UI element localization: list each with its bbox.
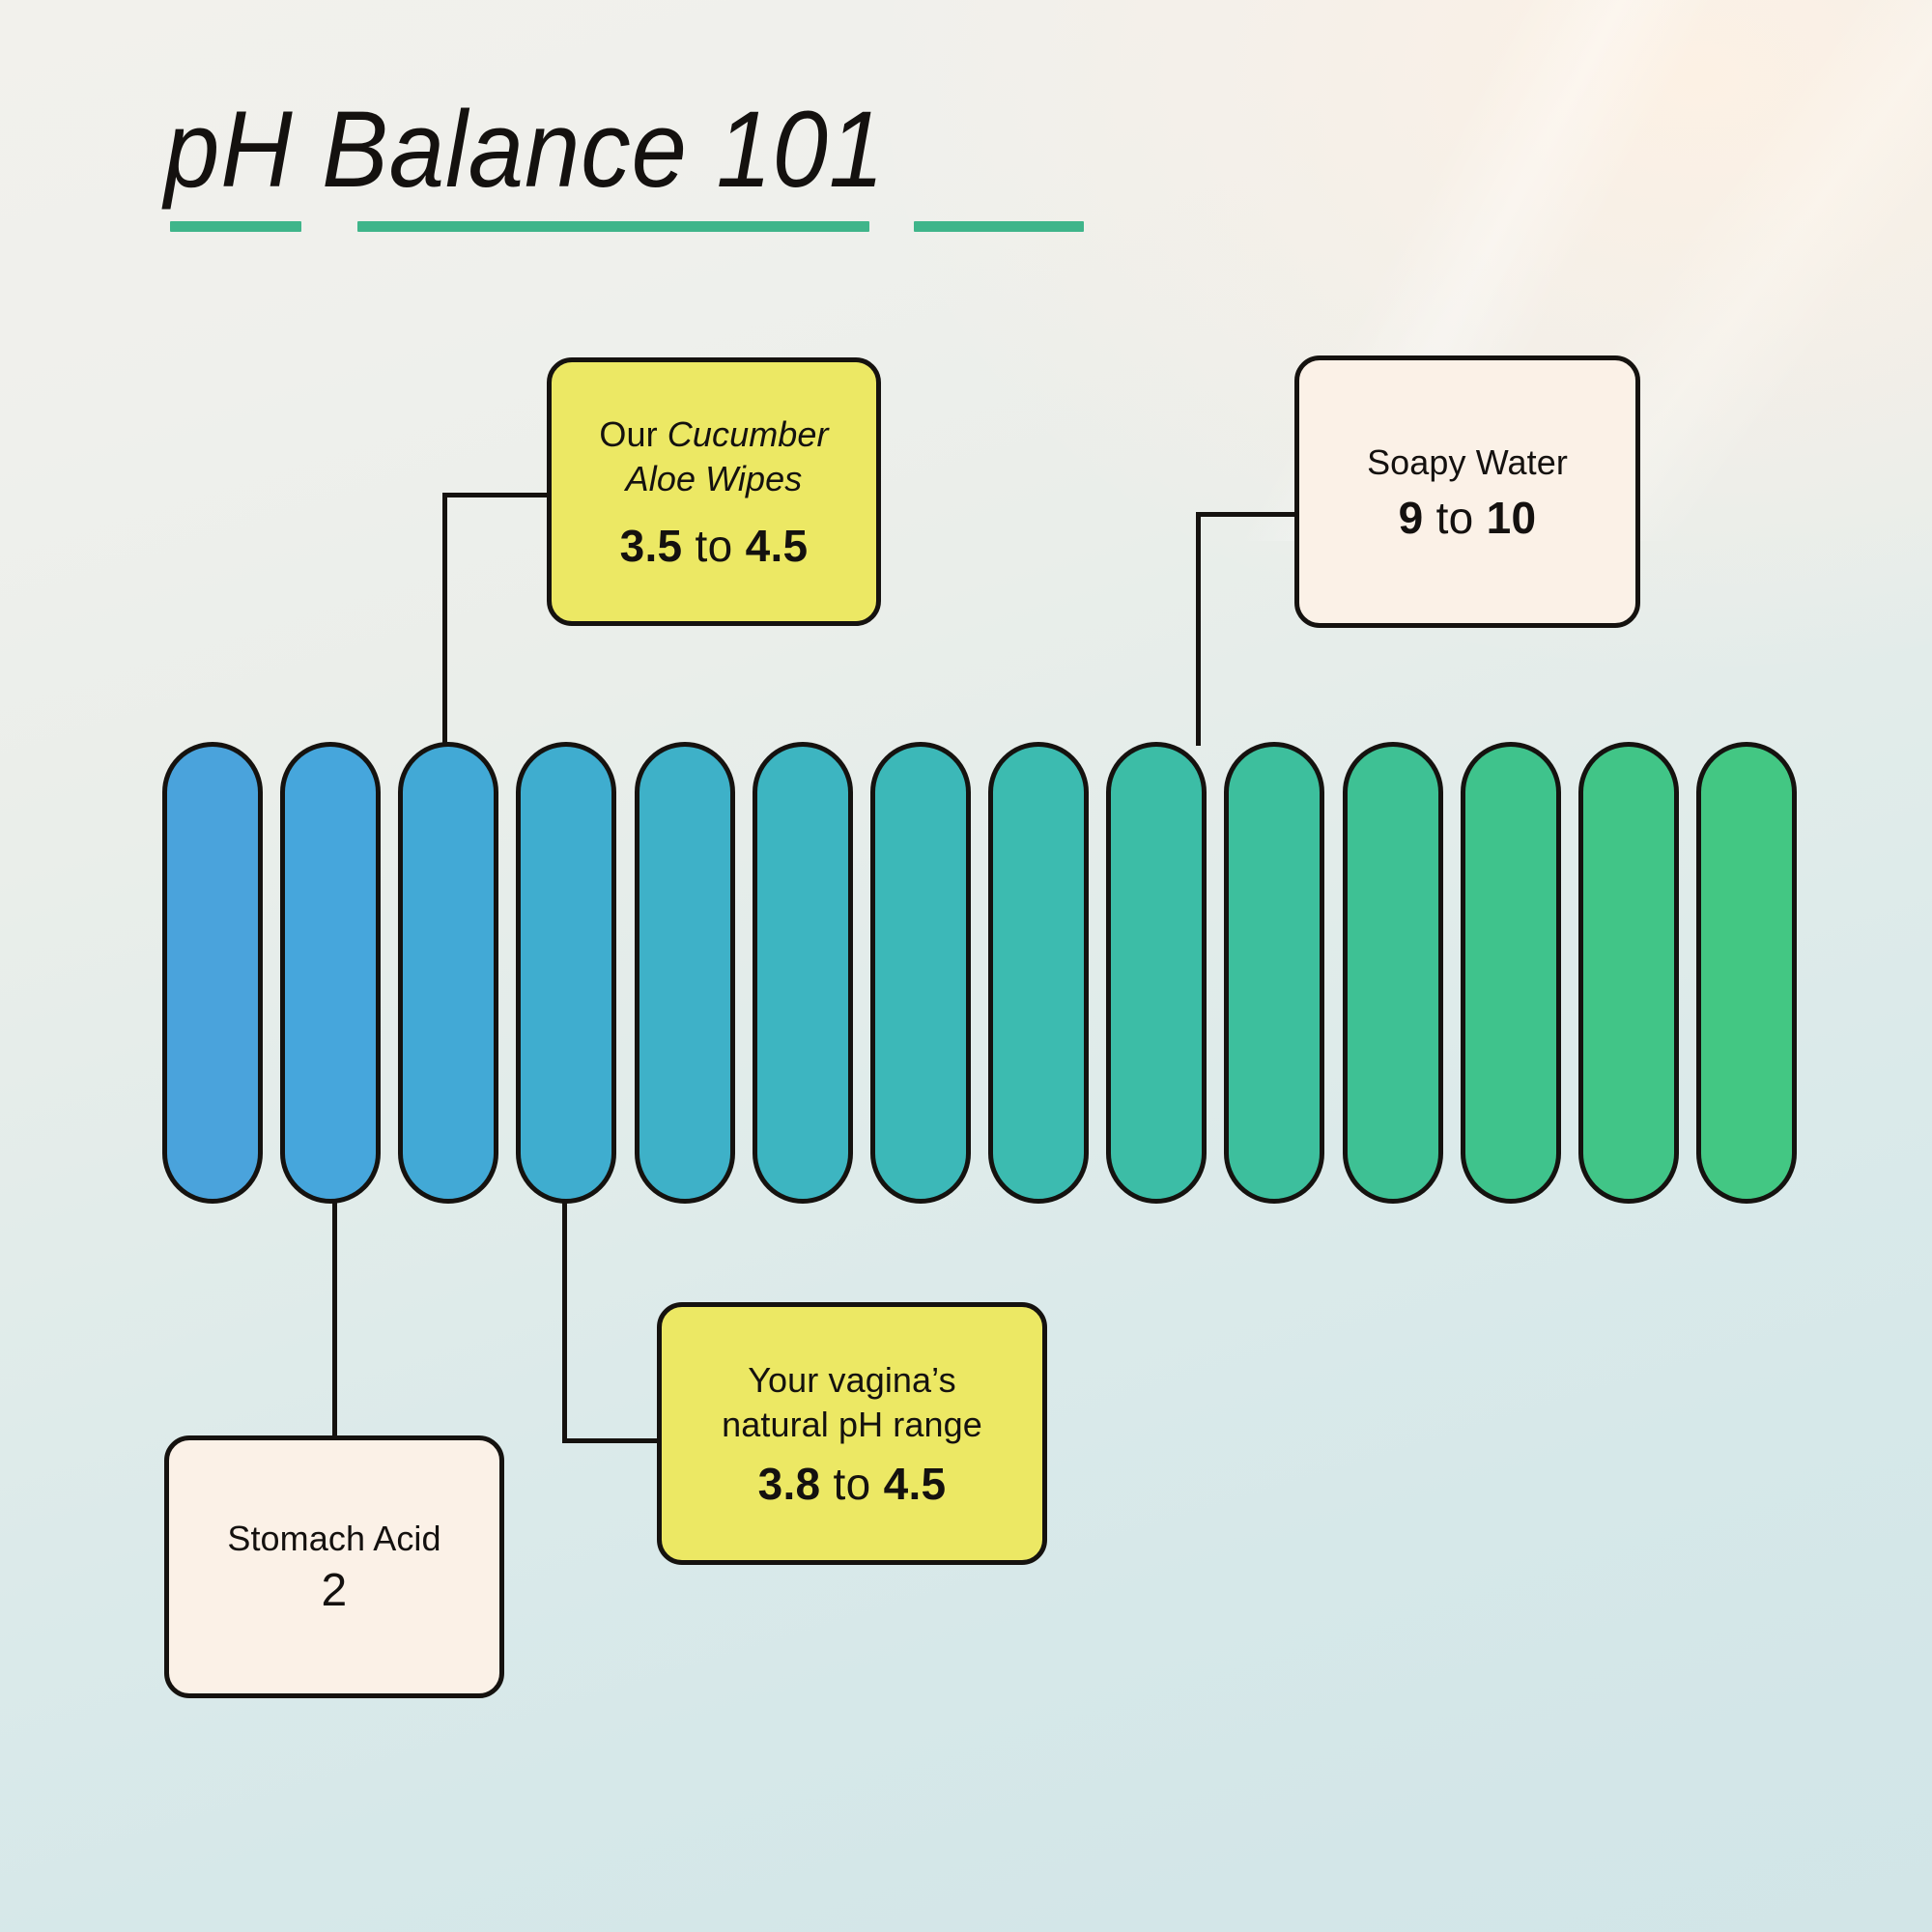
callout-vagina-value: 3.8 to 4.5 — [758, 1460, 947, 1509]
ph-bar-6 — [753, 742, 853, 1204]
callout-vagina-label-line2: natural pH range — [722, 1405, 982, 1444]
ph-bar-14 — [1696, 742, 1797, 1204]
ph-bar-12 — [1461, 742, 1561, 1204]
callout-stomach-label: Stomach Acid — [227, 1517, 440, 1560]
callout-soapy-value-join: to — [1423, 493, 1486, 543]
ph-bar-4 — [516, 742, 616, 1204]
connector-soapy-horizontal — [1196, 512, 1302, 517]
connector-vagina-horizontal — [562, 1438, 665, 1443]
callout-wipes-value-a: 3.5 — [620, 521, 683, 571]
callout-wipes-value-b: 4.5 — [746, 521, 809, 571]
callout-stomach-acid[interactable]: Stomach Acid 2 — [164, 1435, 504, 1698]
ph-bar-9 — [1106, 742, 1207, 1204]
callout-wipes-label-plain: Our — [599, 414, 667, 454]
callout-stomach-value: 2 — [322, 1566, 348, 1617]
callout-soapy-label: Soapy Water — [1367, 440, 1568, 484]
title-underline-101 — [914, 221, 1084, 232]
connector-wipes-vertical — [442, 493, 447, 746]
ph-bar-10 — [1224, 742, 1324, 1204]
callout-vagina-label-line1: Your vagina’s — [748, 1360, 955, 1400]
callout-soapy-value-a: 9 — [1399, 493, 1424, 543]
page-title: pH Balance 101 — [164, 89, 885, 210]
callout-wipes-label: Our CucumberAloe Wipes — [599, 412, 828, 500]
callout-wipes-label-em2: Aloe Wipes — [626, 459, 803, 498]
callout-wipes-value-join: to — [682, 521, 745, 571]
callout-soapy-water[interactable]: Soapy Water 9 to 10 — [1294, 355, 1640, 628]
callout-cucumber-aloe-wipes[interactable]: Our CucumberAloe Wipes 3.5 to 4.5 — [547, 357, 881, 626]
ph-bar-3 — [398, 742, 498, 1204]
connector-stomach-vertical — [332, 1200, 337, 1441]
ph-bar-13 — [1578, 742, 1679, 1204]
connector-vagina-vertical — [562, 1200, 567, 1443]
callout-soapy-value-b: 10 — [1487, 493, 1537, 543]
callout-vagina-value-a: 3.8 — [758, 1459, 821, 1509]
callout-wipes-label-em1: Cucumber — [668, 414, 829, 454]
ph-scale-strip — [162, 742, 1797, 1204]
ph-bar-5 — [635, 742, 735, 1204]
callout-vagina-value-b: 4.5 — [884, 1459, 947, 1509]
ph-bar-11 — [1343, 742, 1443, 1204]
ph-bar-7 — [870, 742, 971, 1204]
title-underline-ph — [170, 221, 301, 232]
ph-bar-1 — [162, 742, 263, 1204]
callout-vagina-label: Your vagina’snatural pH range — [722, 1358, 982, 1446]
callout-vaginal-ph-range[interactable]: Your vagina’snatural pH range 3.8 to 4.5 — [657, 1302, 1047, 1565]
ph-bar-2 — [280, 742, 381, 1204]
callout-wipes-value: 3.5 to 4.5 — [620, 522, 809, 571]
callout-vagina-value-join: to — [820, 1459, 883, 1509]
connector-wipes-horizontal — [442, 493, 554, 497]
title-underline-balance — [357, 221, 869, 232]
title-block: pH Balance 101 — [164, 89, 1323, 263]
infographic-canvas: pH Balance 101 Our CucumberAloe Wipes 3.… — [0, 0, 1932, 1932]
connector-soapy-vertical — [1196, 512, 1201, 746]
callout-soapy-value: 9 to 10 — [1399, 494, 1537, 543]
ph-bar-8 — [988, 742, 1089, 1204]
